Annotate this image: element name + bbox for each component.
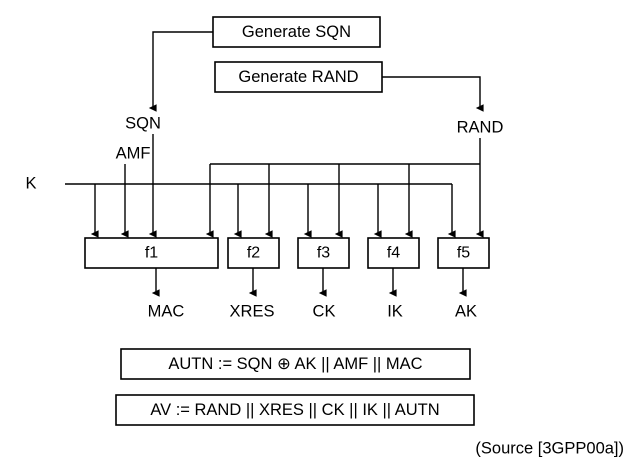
generate-sqn-box: Generate SQN xyxy=(213,17,380,47)
formula-box-autn: AUTN := SQN ⊕ AK || AMF || MAC xyxy=(121,349,470,379)
f5-label: f5 xyxy=(457,245,470,262)
autn-formula-label: AUTN := SQN ⊕ AK || AMF || MAC xyxy=(168,355,422,373)
generate-rand-box: Generate RAND xyxy=(215,62,382,92)
signal-label-amf: AMF xyxy=(116,144,151,162)
output-label-mac: MAC xyxy=(148,302,185,320)
authentication-vector-diagram: Generate SQN Generate RAND SQN AMF RAND … xyxy=(0,0,634,465)
diagram-canvas: Generate SQN Generate RAND SQN AMF RAND … xyxy=(0,0,634,465)
formula-box-av: AV := RAND || XRES || CK || IK || AUTN xyxy=(116,395,474,425)
signal-label-k: K xyxy=(25,174,36,192)
output-label-ck: CK xyxy=(313,302,336,320)
wire-sqn-from-generator xyxy=(153,32,213,108)
av-formula-label: AV := RAND || XRES || CK || IK || AUTN xyxy=(150,401,439,419)
source-attribution: (Source [3GPP00a]) xyxy=(475,439,624,457)
function-block-f5: f5 xyxy=(438,238,489,268)
f2-label: f2 xyxy=(247,245,260,262)
f1-label: f1 xyxy=(145,245,158,262)
generate-rand-label: Generate RAND xyxy=(238,68,358,86)
function-block-f1: f1 xyxy=(85,238,218,268)
output-label-ak: AK xyxy=(455,302,477,320)
function-block-f4: f4 xyxy=(368,238,419,268)
function-block-f2: f2 xyxy=(228,238,279,268)
f4-label: f4 xyxy=(387,245,400,262)
signal-label-rand: RAND xyxy=(457,118,504,136)
function-block-f3: f3 xyxy=(298,238,349,268)
output-label-xres: XRES xyxy=(230,302,275,320)
output-label-ik: IK xyxy=(387,302,403,320)
generate-sqn-label: Generate SQN xyxy=(242,23,351,41)
signal-label-sqn: SQN xyxy=(125,114,161,132)
f3-label: f3 xyxy=(317,245,330,262)
wire-rand-from-generator xyxy=(382,77,480,108)
